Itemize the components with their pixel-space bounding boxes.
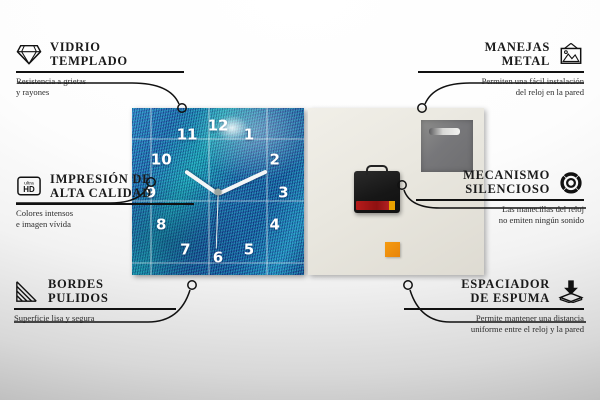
clock-numeral-1: 1	[244, 127, 254, 142]
metal-hanger-plate	[421, 120, 473, 172]
mechanism-hanging-loop	[366, 165, 388, 175]
callout-description: Resistencia a grietas y rayones	[16, 76, 184, 99]
clock-hub	[215, 188, 222, 195]
diamond-icon	[16, 42, 42, 66]
callout-header: MANEJAS METAL	[418, 40, 584, 68]
callout-description: Permiten una fácil instalación del reloj…	[418, 76, 584, 99]
callout-title: BORDES PULIDOS	[48, 277, 108, 305]
callout-impresion-alta-calidad: ultra HD IMPRESIÓN DE ALTA CALIDAD Color…	[16, 172, 194, 231]
clock-numeral-2: 2	[270, 152, 280, 167]
callout-rule	[418, 71, 584, 73]
clock-numeral-5: 5	[244, 242, 254, 257]
callout-rule	[416, 199, 584, 201]
battery	[356, 201, 395, 210]
svg-text:HD: HD	[23, 185, 35, 194]
gear-icon	[558, 170, 584, 194]
callout-description: Permite mantener una distancia uniforme …	[404, 313, 584, 336]
callout-header: ultra HD IMPRESIÓN DE ALTA CALIDAD	[16, 172, 194, 200]
clock-numeral-12: 12	[208, 119, 229, 134]
foam-spacer-arrow-icon	[558, 279, 584, 303]
battery-terminal	[389, 201, 395, 210]
callout-vidrio-templado: VIDRIO TEMPLADO Resistencia a grietas y …	[16, 40, 184, 99]
callout-bordes-pulidos: BORDES PULIDOS Superficie lisa y segura	[14, 277, 176, 324]
callout-title: VIDRIO TEMPLADO	[50, 40, 128, 68]
callout-mecanismo-silencioso: MECANISMO SILENCIOSO Las manecillas del …	[416, 168, 584, 227]
hanger-slot	[429, 128, 460, 135]
callout-rule	[14, 308, 176, 310]
callout-rule	[16, 71, 184, 73]
clock-numeral-7: 7	[180, 242, 190, 257]
callout-title: MECANISMO SILENCIOSO	[463, 168, 550, 196]
infographic-stage: 12 1 2 3 4 5 6 7 8 9 10 11	[0, 0, 600, 400]
callout-description: Superficie lisa y segura	[14, 313, 176, 325]
callout-title: IMPRESIÓN DE ALTA CALIDAD	[50, 172, 152, 200]
ultra-hd-icon: ultra HD	[16, 174, 42, 198]
callout-description: Colores intensos e imagen vívida	[16, 208, 194, 231]
clock-numeral-6: 6	[213, 251, 223, 266]
clock-mechanism-box	[354, 171, 400, 213]
clock-numeral-10: 10	[151, 152, 172, 167]
callout-header: VIDRIO TEMPLADO	[16, 40, 184, 68]
callout-manejas-metal: MANEJAS METAL Permiten una fácil instala…	[418, 40, 584, 99]
foam-spacer-square	[385, 242, 400, 257]
clock-second-hand	[215, 192, 218, 248]
clock-numeral-3: 3	[278, 186, 288, 201]
callout-rule	[16, 203, 194, 205]
callout-header: BORDES PULIDOS	[14, 277, 176, 305]
polished-edge-icon	[14, 279, 40, 303]
callout-rule	[404, 308, 584, 310]
clock-numeral-4: 4	[270, 217, 280, 232]
callout-espaciador-de-espuma: ESPACIADOR DE ESPUMA Permite mantener un…	[404, 277, 584, 336]
clock-minute-hand	[217, 169, 268, 195]
callout-title: MANEJAS METAL	[485, 40, 550, 68]
callout-description: Las manecillas del reloj no emiten ningú…	[416, 204, 584, 227]
clock-numeral-11: 11	[177, 127, 198, 142]
picture-frame-hanger-icon	[558, 42, 584, 66]
callout-title: ESPACIADOR DE ESPUMA	[461, 277, 550, 305]
callout-header: ESPACIADOR DE ESPUMA	[404, 277, 584, 305]
callout-header: MECANISMO SILENCIOSO	[416, 168, 584, 196]
